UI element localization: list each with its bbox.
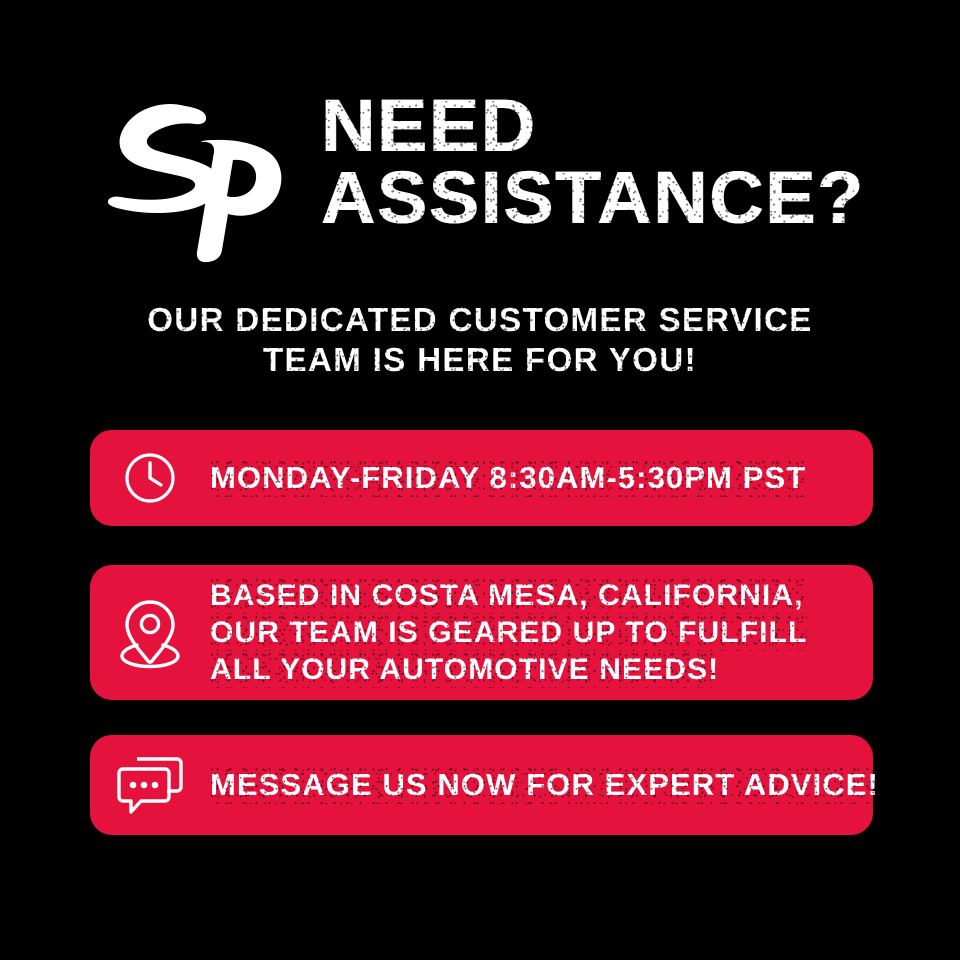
subtitle-line-2: TEAM IS HERE FOR YOU!	[0, 340, 960, 380]
poster-header: NEED ASSISTANCE?	[0, 88, 960, 264]
clock-icon	[90, 450, 210, 506]
banner-location-text: BASED IN COSTA MESA, CALIFORNIA, OUR TEA…	[210, 577, 873, 689]
banner-hours-line-1: MONDAY-FRIDAY 8:30AM-5:30PM PST	[210, 459, 847, 497]
banner-message-text: MESSAGE US NOW FOR EXPERT ADVICE!	[210, 766, 905, 804]
location-pin-icon	[90, 597, 210, 669]
sp-monogram-icon	[105, 94, 295, 264]
banner-message[interactable]: MESSAGE US NOW FOR EXPERT ADVICE!	[90, 735, 873, 835]
banner-location-line-3: ALL YOUR AUTOMOTIVE NEEDS!	[210, 651, 847, 688]
chat-bubbles-icon	[90, 754, 210, 816]
banner-location-line-1: BASED IN COSTA MESA, CALIFORNIA,	[210, 577, 847, 614]
page-title: NEED ASSISTANCE?	[321, 88, 854, 234]
customer-service-poster: NEED ASSISTANCE? OUR DEDICATED CUSTOMER …	[0, 0, 960, 960]
headline-line-2: ASSISTANCE?	[321, 162, 865, 234]
banner-hours-text: MONDAY-FRIDAY 8:30AM-5:30PM PST	[210, 459, 873, 497]
banner-hours[interactable]: MONDAY-FRIDAY 8:30AM-5:30PM PST	[90, 430, 873, 526]
subtitle: OUR DEDICATED CUSTOMER SERVICE TEAM IS H…	[0, 300, 960, 381]
banner-location[interactable]: BASED IN COSTA MESA, CALIFORNIA, OUR TEA…	[90, 565, 873, 700]
subtitle-line-1: OUR DEDICATED CUSTOMER SERVICE	[0, 300, 960, 340]
banner-message-line-1: MESSAGE US NOW FOR EXPERT ADVICE!	[210, 766, 879, 804]
headline-line-1: NEED	[321, 90, 865, 162]
banner-location-line-2: OUR TEAM IS GEARED UP TO FULFILL	[210, 614, 847, 651]
